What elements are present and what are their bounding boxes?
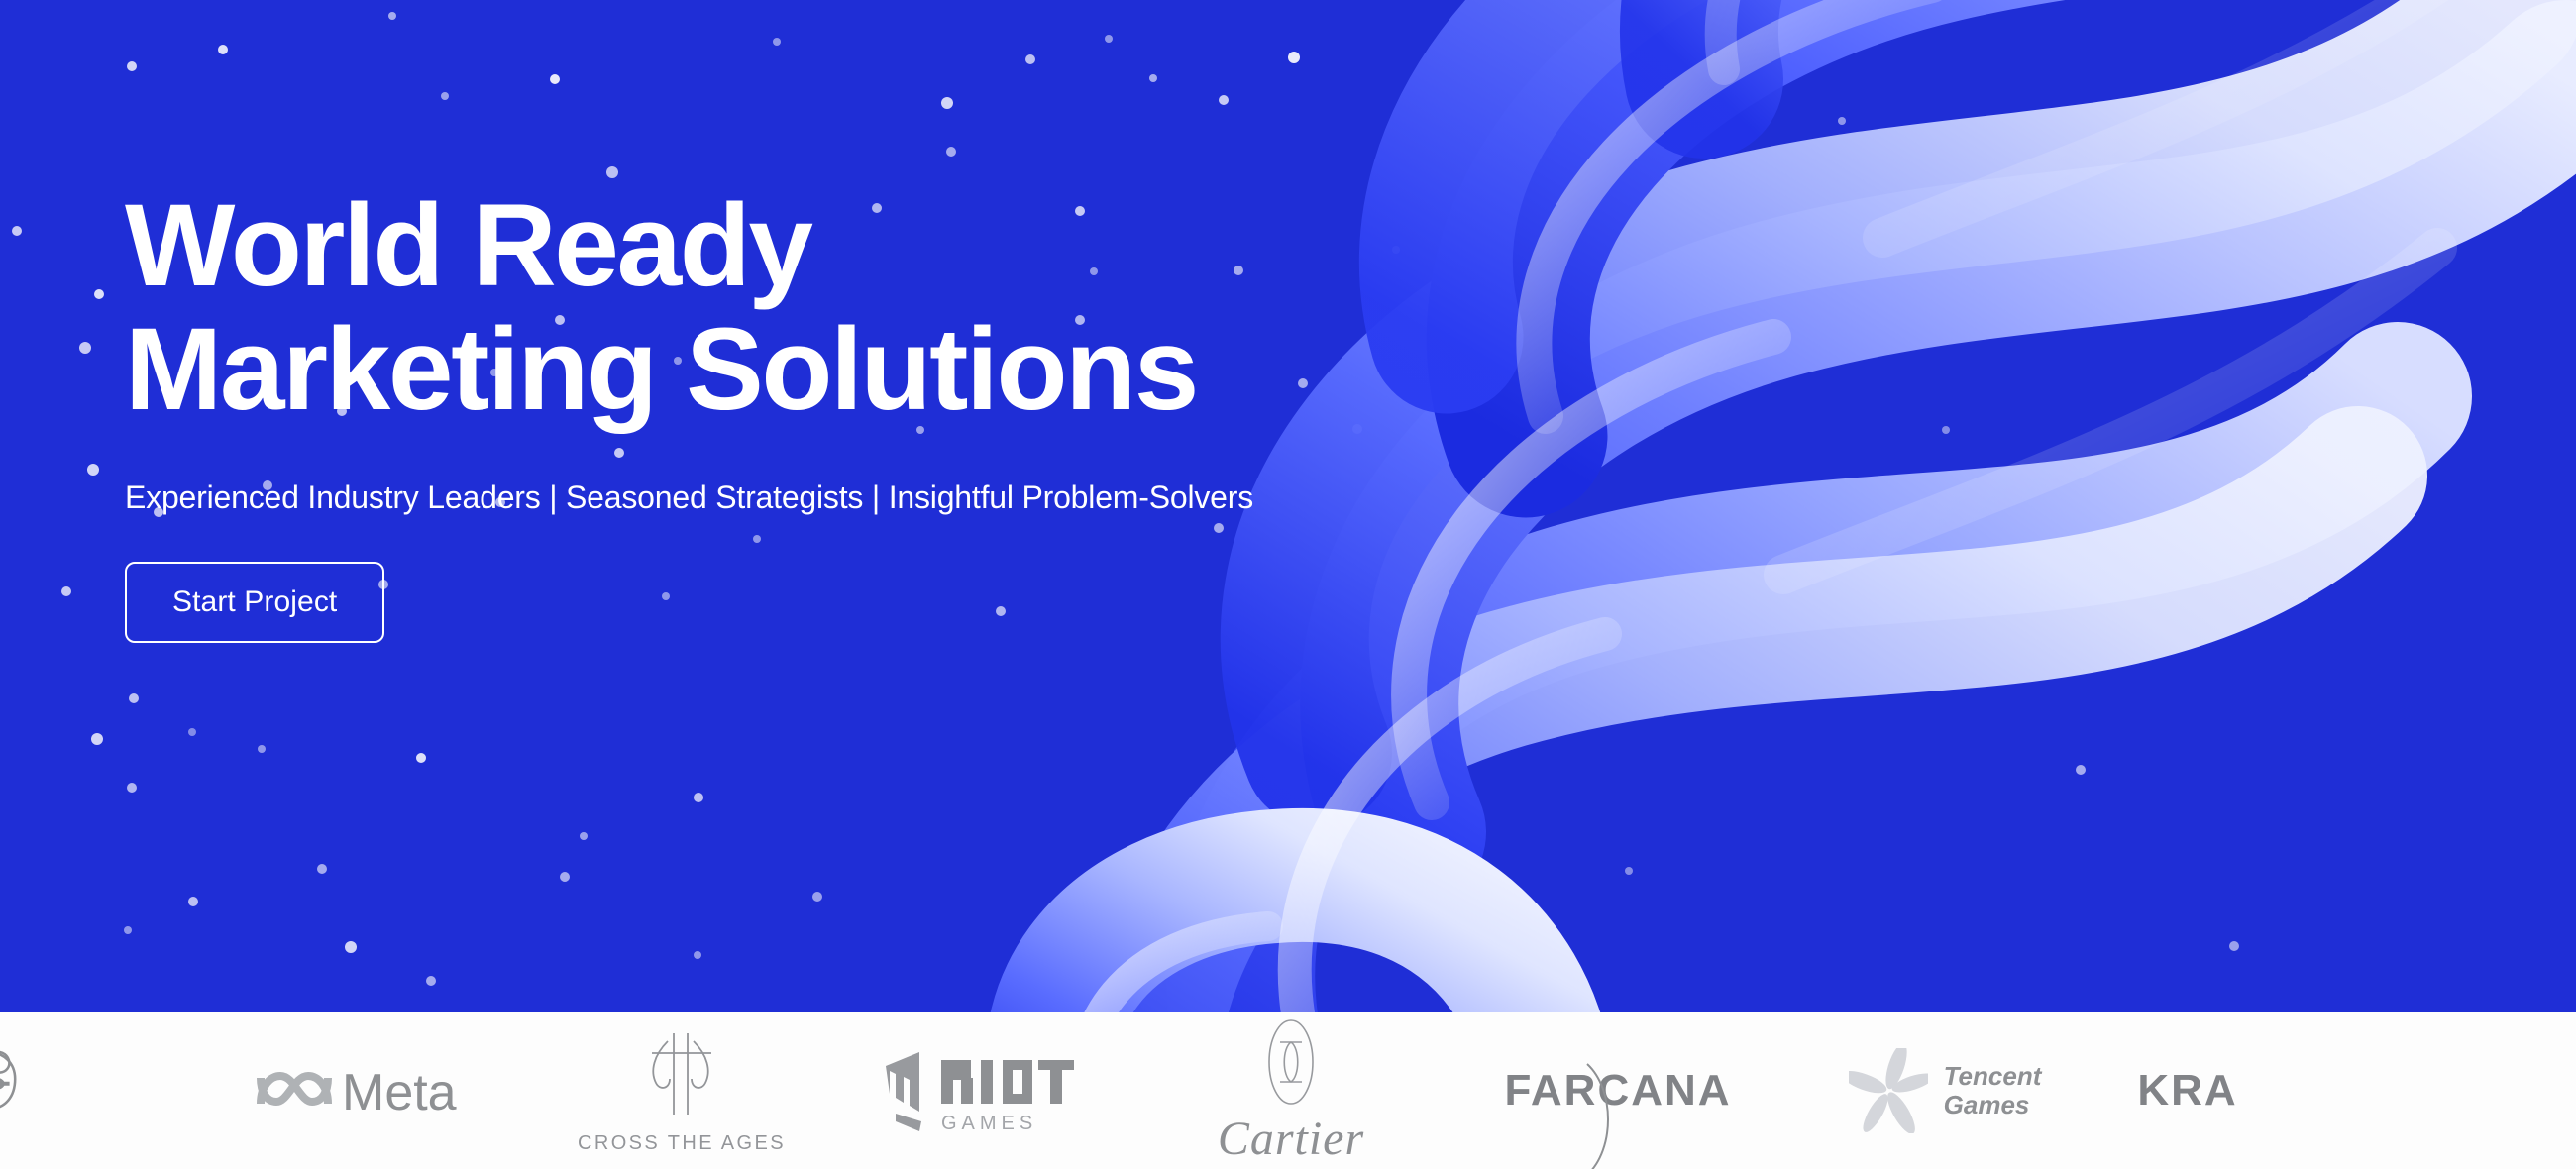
particle-dot: [129, 693, 139, 703]
particle-dot: [1942, 426, 1950, 434]
particle-dot: [606, 166, 618, 178]
particle-dot: [127, 61, 137, 71]
particle-dot: [345, 941, 357, 953]
particle-dot: [812, 892, 822, 902]
particle-dot: [1105, 35, 1113, 43]
logo-farcana[interactable]: FARCANA: [1454, 1066, 1781, 1116]
particle-dot: [1219, 95, 1229, 105]
particle-dot: [550, 74, 560, 84]
svg-text:Meta: Meta: [342, 1064, 457, 1121]
particle-dot: [12, 226, 22, 236]
particle-dot: [580, 832, 588, 840]
particle-dot: [218, 45, 228, 54]
logo-meta[interactable]: Meta: [196, 1060, 533, 1121]
particle-dot: [1516, 451, 1524, 459]
page-title: World Ready Marketing Solutions: [125, 184, 1413, 432]
client-logo-bar: CO Meta: [0, 1012, 2576, 1169]
particle-dot: [1531, 196, 1543, 208]
particle-dot: [1726, 256, 1736, 266]
logo-cartier-text: Cartier: [1218, 1112, 1364, 1166]
particle-dot: [61, 586, 71, 596]
particle-dot: [127, 783, 137, 793]
logo-tencent-games[interactable]: Tencent Games: [1781, 1048, 2108, 1133]
particle-dot: [941, 97, 953, 109]
particle-dot: [1625, 867, 1633, 875]
particle-dot: [87, 464, 99, 476]
particle-dot: [694, 793, 703, 802]
particle-dot: [1585, 533, 1593, 541]
particle-dot: [1412, 600, 1422, 610]
headline-line-2: Marketing Solutions: [125, 308, 1413, 432]
logo-cross-the-ages-text: CROSS THE AGES: [578, 1132, 786, 1155]
logo-hipco-hippo-mascot[interactable]: CO: [0, 1032, 67, 1149]
particle-dot: [1025, 54, 1035, 64]
particle-dot: [441, 92, 449, 100]
particle-dot: [416, 753, 426, 763]
particle-dot: [2076, 765, 2086, 775]
particle-dot: [388, 12, 396, 20]
logo-tencent-games-text-line-1: Tencent: [1944, 1062, 2042, 1091]
logo-riot-games[interactable]: GAMES: [830, 1048, 1127, 1133]
particle-dot: [124, 926, 132, 934]
hero-section: World Ready Marketing Solutions Experien…: [0, 0, 2576, 1012]
logo-krafton[interactable]: KRA: [2108, 1066, 2267, 1116]
particle-dot: [2170, 493, 2178, 501]
particle-dot: [773, 38, 781, 46]
particle-dot: [426, 976, 436, 986]
logo-track: CO Meta: [0, 1016, 2576, 1166]
hero-subheadline: Experienced Industry Leaders | Seasoned …: [125, 479, 1413, 516]
particle-dot: [560, 872, 570, 882]
particle-dot: [317, 864, 327, 874]
headline-line-1: World Ready: [125, 184, 1413, 308]
logo-cross-the-ages[interactable]: CROSS THE AGES: [533, 1027, 830, 1155]
particle-dot: [1288, 52, 1300, 63]
logo-tencent-games-text-line-2: Games: [1944, 1091, 2042, 1119]
particle-dot: [694, 951, 701, 959]
particle-dot: [1838, 117, 1846, 125]
landing-page: World Ready Marketing Solutions Experien…: [0, 0, 2576, 1169]
svg-text:GAMES: GAMES: [941, 1113, 1037, 1133]
particle-dot: [94, 289, 104, 299]
particle-dot: [946, 147, 956, 157]
particle-dot: [188, 897, 198, 906]
particle-dot: [188, 728, 196, 736]
particle-dot: [1149, 74, 1157, 82]
particle-dot: [79, 342, 91, 354]
logo-krafton-text: KRA: [2137, 1066, 2237, 1116]
logo-cartier[interactable]: Cartier: [1127, 1016, 1454, 1166]
particle-dot: [258, 745, 266, 753]
particle-dot: [91, 733, 103, 745]
hero-content: World Ready Marketing Solutions Experien…: [125, 184, 1413, 643]
start-project-button[interactable]: Start Project: [125, 562, 384, 643]
particle-dot: [2229, 941, 2239, 951]
